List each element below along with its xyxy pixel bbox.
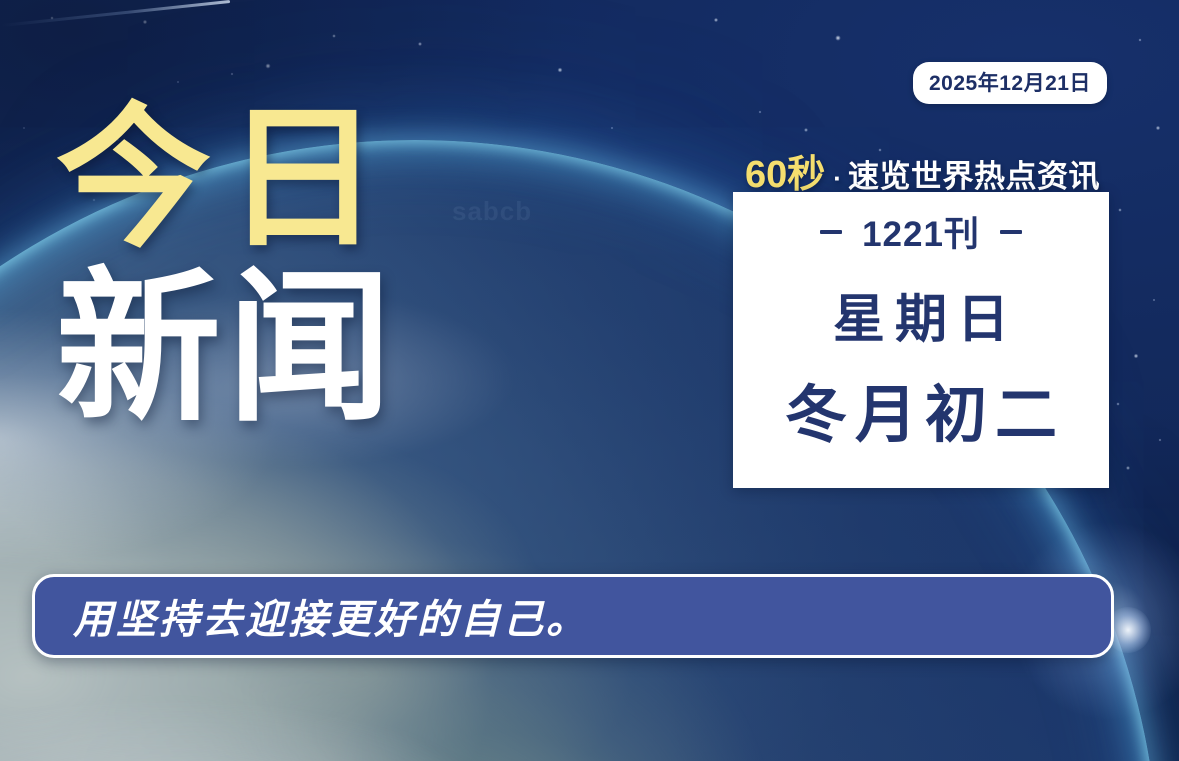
issue-row: 1221刊 [820,206,1022,257]
page-title-line-2: 新闻 [56,264,486,432]
headline-separator: · [833,163,842,194]
poster-title: 今日 新闻 [56,104,486,432]
issue-number: 1221刊 [862,206,980,257]
headline-seconds: 60秒 [745,143,825,198]
lunar-date-label: 冬月初二 [777,364,1065,454]
date-badge: 2025年12月21日 [913,62,1107,104]
news-poster: sabcb 今日 新闻 2025年12月21日 60秒 · 速览世界热点资讯 1… [0,0,1179,761]
quote-text: 用坚持去迎接更好的自己。 [73,587,589,645]
headline-tagline: 速览世界热点资讯 [848,151,1100,196]
info-card: 1221刊 星期日 冬月初二 [733,192,1109,488]
quote-banner: 用坚持去迎接更好的自己。 [32,574,1114,658]
issue-dash-left-icon [820,230,842,234]
page-title-line-1: 今日 [56,104,486,254]
issue-dash-right-icon [1000,230,1022,234]
weekday-label: 星期日 [823,277,1019,352]
headline-row: 60秒 · 速览世界热点资讯 [745,143,1100,198]
